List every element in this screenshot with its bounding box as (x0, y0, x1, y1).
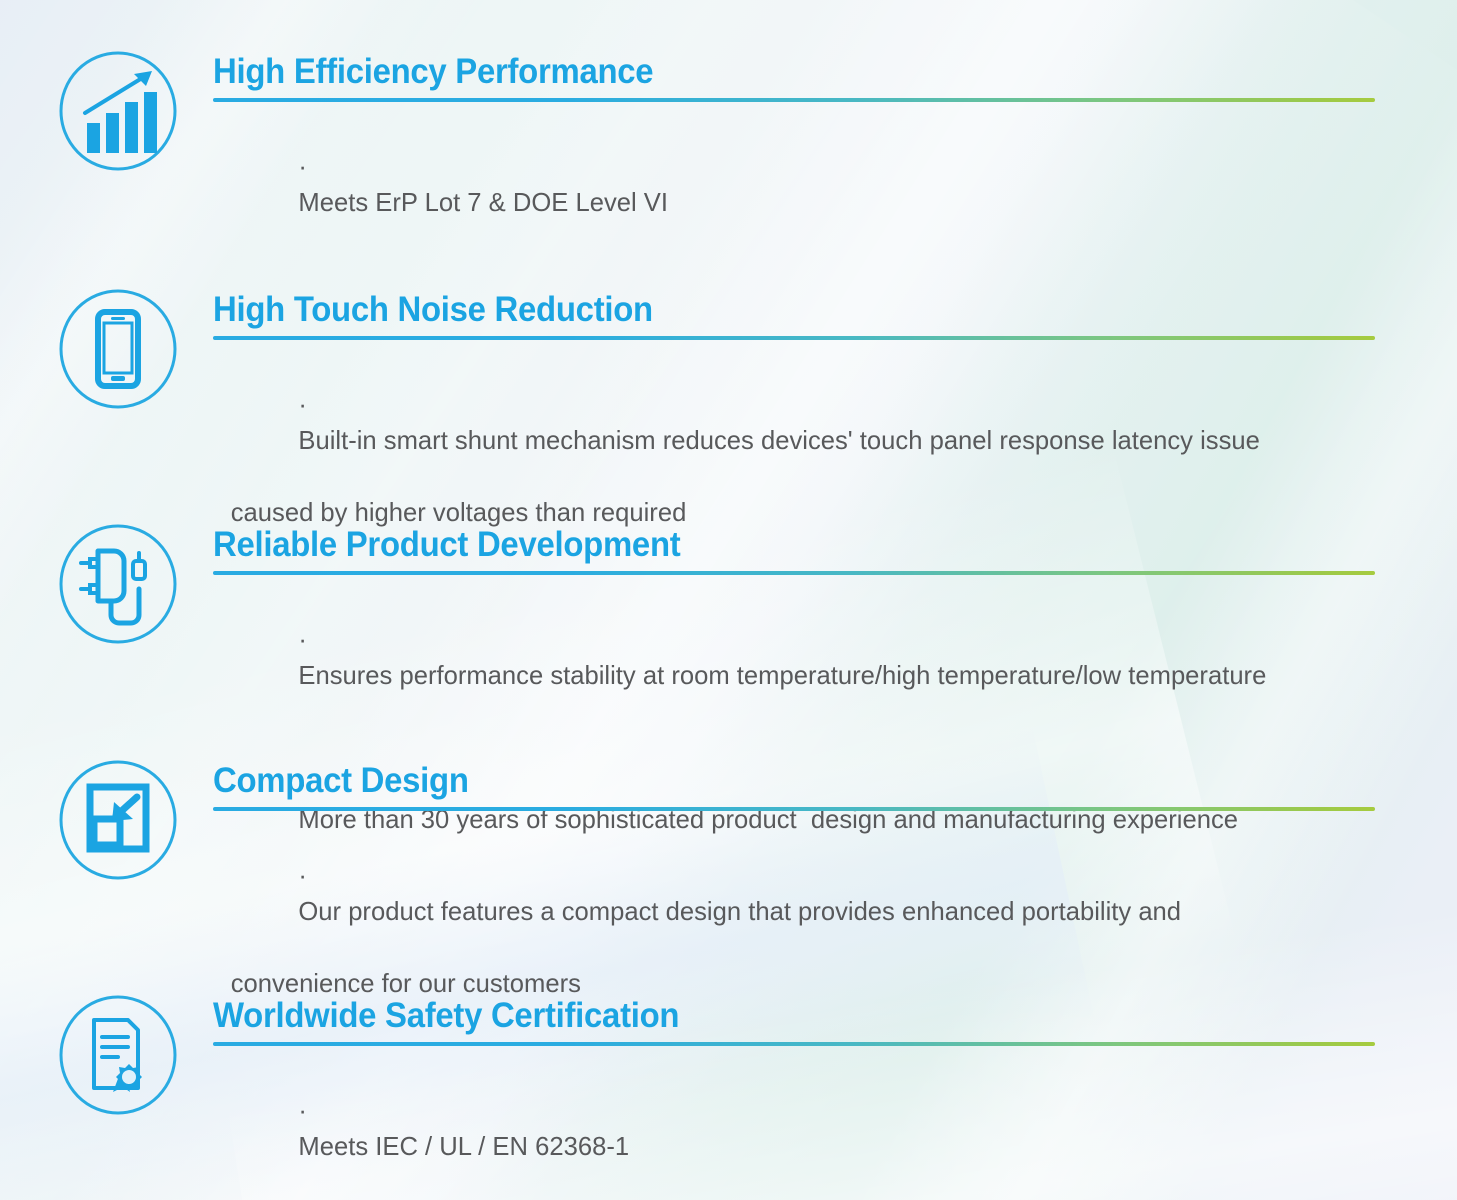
feature-highlight-panel: High Efficiency Performance · Meets ErP … (0, 0, 1457, 1200)
feature-bullets: · Meets ErP Lot 7 & DOE Level VI (213, 112, 1457, 256)
feature-body: Worldwide Safety Certification · Meets I… (213, 994, 1457, 1200)
bullet-marker: · (298, 389, 307, 419)
bullet-text: Meets IEC / UL / EN 62368-1 (298, 1131, 629, 1161)
bullet-text: Ensures performance stability at room te… (298, 660, 1266, 690)
compact-resize-icon (57, 759, 179, 881)
bullet-marker: · (298, 1095, 307, 1125)
feature-title: Worldwide Safety Certification (213, 994, 1382, 1038)
growth-bar-chart-icon (57, 50, 179, 172)
smartphone-icon (57, 288, 179, 410)
feature-title: Reliable Product Development (213, 523, 1382, 567)
feature-divider (213, 98, 1375, 102)
feature-body: High Efficiency Performance · Meets ErP … (213, 50, 1457, 256)
feature-title: High Efficiency Performance (213, 50, 1382, 94)
bullet-line: · Meets IEC / UL / EN 62368-1 (213, 1056, 1438, 1200)
bullet-text: Built-in smart shunt mechanism reduces d… (298, 425, 1259, 455)
feature-divider (213, 1042, 1375, 1046)
bullet-text: Meets ErP Lot 7 & DOE Level VI (298, 187, 668, 217)
feature-title: Compact Design (213, 759, 1382, 803)
bullet-marker: · (298, 151, 307, 181)
certificate-seal-icon (57, 994, 179, 1116)
feature-list: High Efficiency Performance · Meets ErP … (0, 0, 1457, 1200)
feature-bullets: · Meets IEC / UL / EN 62368-1 (213, 1056, 1457, 1200)
bullet-line: · Meets ErP Lot 7 & DOE Level VI (213, 112, 1438, 256)
feature-title: High Touch Noise Reduction (213, 288, 1382, 332)
feature-divider (213, 807, 1375, 811)
feature-divider (213, 336, 1375, 340)
feature-divider (213, 571, 1375, 575)
bullet-marker: · (298, 624, 307, 654)
bullet-text: Our product features a compact design th… (298, 896, 1181, 926)
power-adapter-icon (57, 523, 179, 645)
bullet-marker: · (298, 860, 307, 890)
bullet-line: · Ensures performance stability at room … (213, 585, 1438, 729)
